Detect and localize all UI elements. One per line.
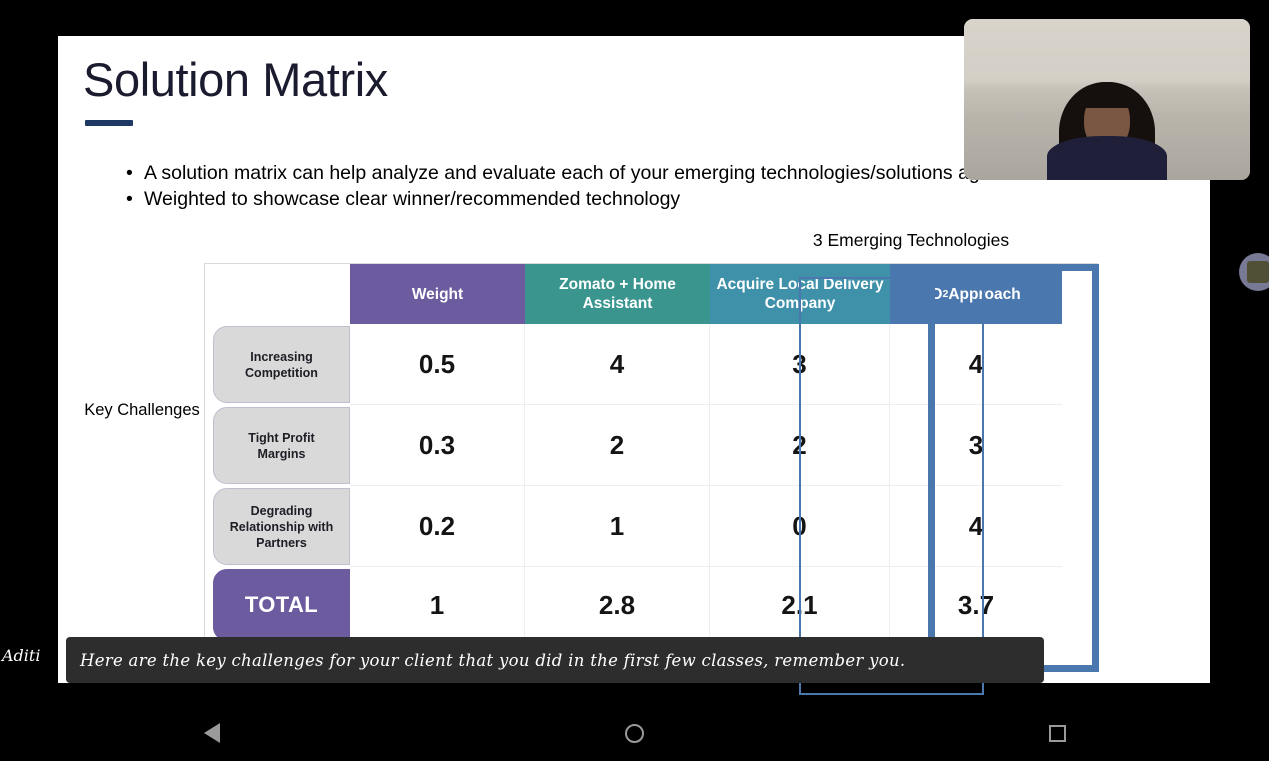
table-cell: 0: [710, 486, 890, 567]
column-header-weight: Weight: [350, 264, 525, 324]
column-header-d2-rest: Approach: [948, 285, 1020, 304]
table-cell: 0.5: [350, 324, 525, 405]
home-icon: [625, 724, 644, 743]
nav-home-button[interactable]: [423, 705, 846, 761]
bullet-marker: •: [126, 160, 133, 186]
row-label-cell: TOTAL: [205, 567, 350, 643]
axis-label-technologies: 3 Emerging Technologies: [751, 230, 1071, 251]
row-label-degrading-relationship: Degrading Relationship with Partners: [213, 488, 350, 565]
table-cell: 0.2: [350, 486, 525, 567]
table-cell-total: 3.7: [890, 567, 1062, 643]
table-cell-total: 2.1: [710, 567, 890, 643]
back-icon: [204, 723, 220, 743]
caption-text: Here are the key challenges for your cli…: [80, 651, 905, 670]
title-underline-rule: [85, 120, 133, 126]
table-cell: 4: [890, 324, 1062, 405]
nav-recents-button[interactable]: [846, 705, 1269, 761]
android-navigation-bar: [0, 705, 1269, 761]
floating-avatar-bubble[interactable]: [1239, 253, 1269, 291]
row-label-cell: Increasing Competition: [205, 324, 350, 405]
table-cell: 0.3: [350, 405, 525, 486]
row-label-increasing-competition: Increasing Competition: [213, 326, 350, 403]
table-cell-total: 1: [350, 567, 525, 643]
page-title: Solution Matrix: [83, 52, 388, 107]
row-label-total: TOTAL: [213, 569, 350, 641]
column-header-d2-approach: D2 Approach: [890, 264, 1062, 324]
recents-icon: [1049, 725, 1066, 742]
table-header-corner: [205, 264, 350, 324]
row-label-cell: Degrading Relationship with Partners: [205, 486, 350, 567]
table-cell: 2: [525, 405, 710, 486]
table-cell: 3: [710, 324, 890, 405]
solution-matrix-table: Weight Zomato + Home Assistant Acquire L…: [204, 263, 1098, 671]
screen: Solution Matrix • A solution matrix can …: [0, 0, 1269, 761]
video-person-torso: [1047, 136, 1167, 180]
participant-video-tile[interactable]: [964, 19, 1250, 180]
bullet-text: Weighted to showcase clear winner/recomm…: [144, 188, 680, 210]
table-cell: 2: [710, 405, 890, 486]
column-header-acquire: Acquire Local Delivery Company: [710, 264, 890, 324]
floating-avatar-thumbnail: [1247, 261, 1269, 283]
column-header-d2-base: D: [931, 285, 942, 304]
bullet-marker: •: [126, 186, 133, 212]
list-item: • Weighted to showcase clear winner/reco…: [90, 186, 1130, 212]
bullet-text: A solution matrix can help analyze and e…: [144, 162, 980, 184]
video-person-hair-front: [1081, 82, 1133, 108]
table-cell: 3: [890, 405, 1062, 486]
table-cell: 4: [525, 324, 710, 405]
row-label-cell: Tight Profit Margins: [205, 405, 350, 486]
caption-bar: Here are the key challenges for your cli…: [66, 637, 1044, 683]
nav-back-button[interactable]: [0, 705, 423, 761]
table-cell-total: 2.8: [525, 567, 710, 643]
axis-label-challenges: Key Challenges: [67, 401, 217, 420]
row-label-tight-profit-margins: Tight Profit Margins: [213, 407, 350, 484]
table-cell: 4: [890, 486, 1062, 567]
table-cell: 1: [525, 486, 710, 567]
caption-speaker-name: Aditi: [2, 646, 40, 665]
column-header-zomato: Zomato + Home Assistant: [525, 264, 710, 324]
